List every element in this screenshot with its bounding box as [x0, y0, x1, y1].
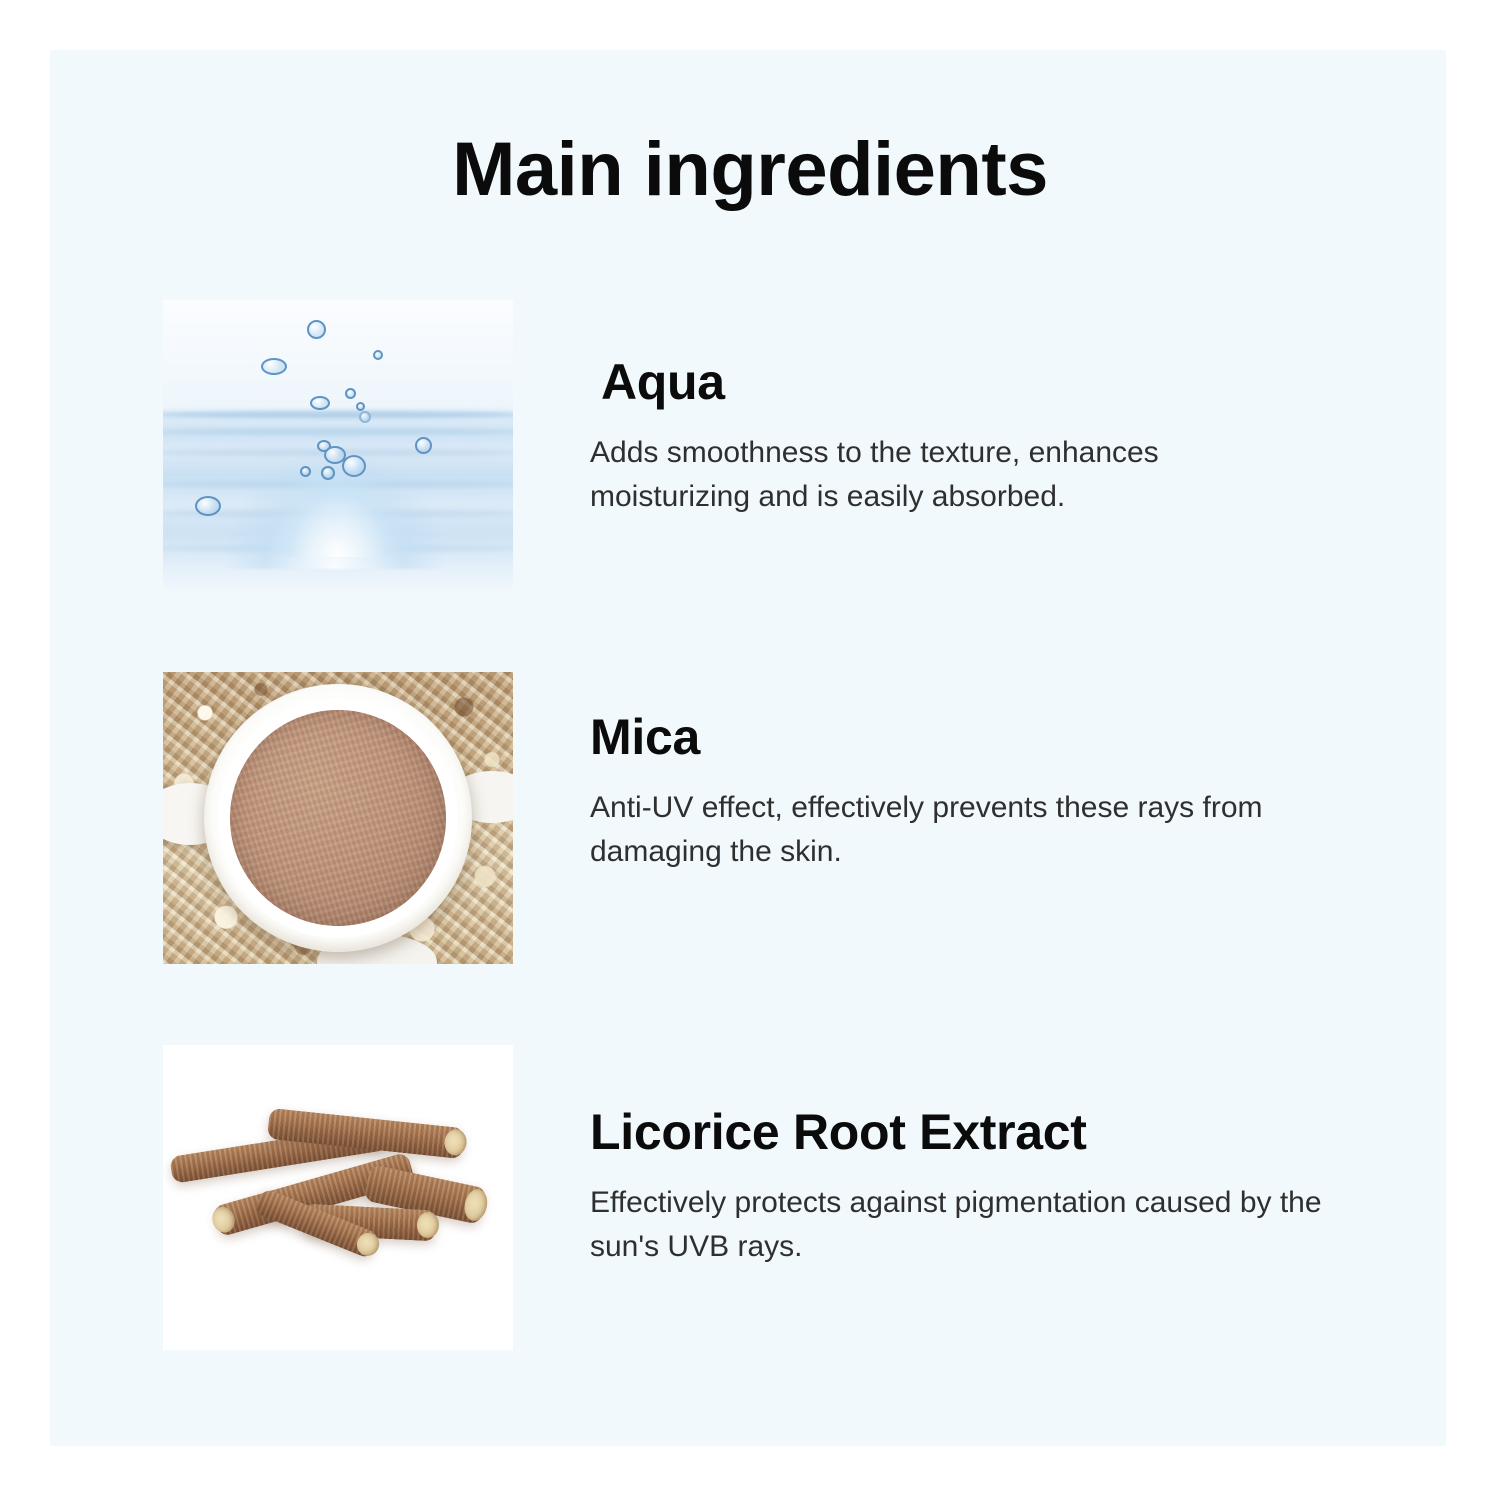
ingredient-copy: Licorice Root Extract Effectively protec… — [590, 1105, 1380, 1270]
bowl-outer — [204, 684, 472, 952]
ingredient-description: Adds smoothness to the texture, enhances… — [590, 431, 1250, 520]
bubble-icon — [356, 402, 365, 411]
bubble-icon — [261, 358, 287, 375]
water-image-canvas — [163, 300, 513, 592]
bubble-icon — [310, 396, 330, 410]
bubble-icon — [307, 320, 326, 339]
licorice-root-sticks-photo — [163, 1045, 513, 1350]
bubble-icon — [373, 350, 383, 360]
bubble-icon — [195, 496, 221, 516]
bubble-icon — [321, 466, 335, 480]
splash-core — [268, 469, 408, 557]
mica-powder — [230, 710, 446, 926]
bubble-icon — [300, 466, 311, 477]
bubble-icon — [342, 455, 366, 477]
mica-image-canvas — [163, 672, 513, 964]
ingredient-copy: Aqua Adds smoothness to the texture, enh… — [590, 355, 1380, 520]
mica-powder-bowl-photo — [163, 672, 513, 964]
ingredient-copy: Mica Anti-UV effect, effectively prevent… — [590, 710, 1380, 875]
ingredients-infographic: Main ingredients — [0, 0, 1500, 1500]
water-splash-photo — [163, 300, 513, 592]
ingredient-name: Licorice Root Extract — [590, 1105, 1380, 1159]
bubble-icon — [345, 388, 356, 399]
page-title: Main ingredients — [0, 132, 1500, 208]
bubble-icon — [359, 411, 371, 423]
ingredient-description: Effectively protects against pigmentatio… — [590, 1181, 1365, 1270]
licorice-image-canvas — [163, 1045, 513, 1350]
ingredient-description: Anti-UV effect, effectively prevents the… — [590, 786, 1350, 875]
ingredient-name: Aqua — [590, 355, 1380, 409]
ingredient-name: Mica — [590, 710, 1380, 764]
